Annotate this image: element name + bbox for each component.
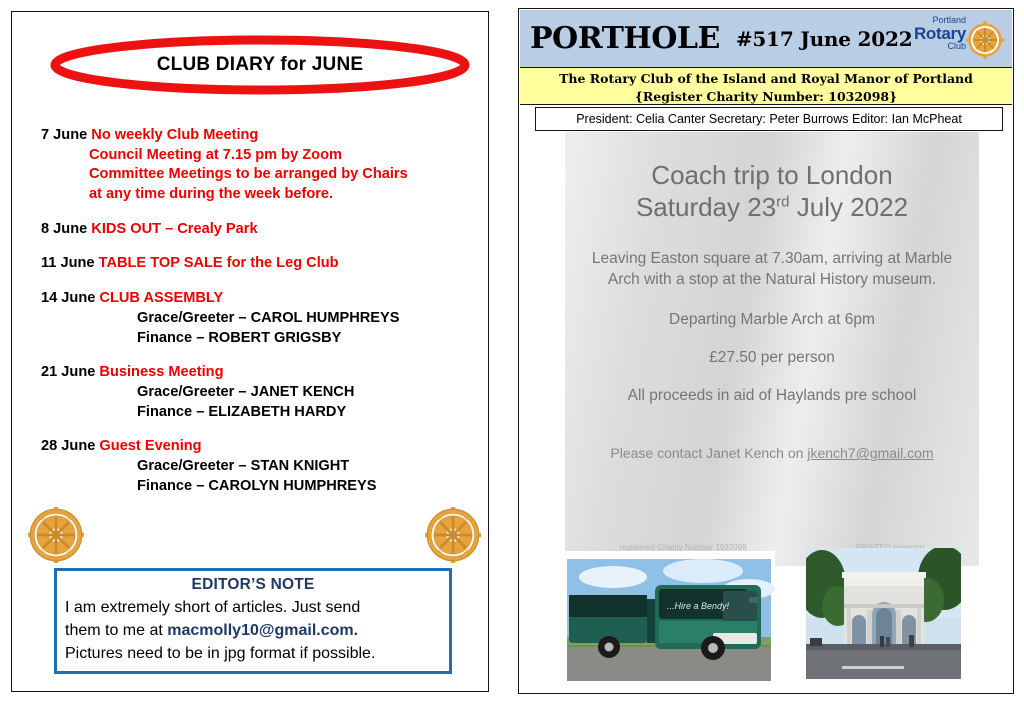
coach-trip-poster-image: Coach trip to London Saturday 23rd July …: [565, 132, 979, 566]
diary-entry-date: 11 June: [41, 255, 95, 271]
diary-entry: 14 June CLUB ASSEMBLYGrace/Greeter – CAR…: [41, 289, 471, 348]
poster-proceeds: All proceeds in aid of Haylands pre scho…: [565, 387, 979, 405]
editors-note-line-3: Pictures need to be in jpg format if pos…: [65, 642, 441, 665]
officers-row: President: Celia Canter Secretary: Peter…: [535, 107, 1003, 131]
editors-note-line-2-prefix: them to me at: [65, 622, 167, 639]
masthead: PORTHOLE #517 June 2022 Portland Rotary …: [520, 10, 1012, 67]
editors-note-line-2: them to me at macmolly10@gmail.com.: [65, 619, 441, 642]
diary-entry-date: 28 June: [41, 438, 95, 454]
logo-wordmark: Portland Rotary Club: [900, 13, 966, 51]
diary-entry-event: TABLE TOP SALE for the Leg Club: [99, 255, 339, 271]
diary-entry-event: Guest Evening: [99, 438, 201, 454]
diary-entry-role: Finance – ELIZABETH HARDY: [137, 403, 471, 423]
page-title: CLUB DIARY for JUNE: [48, 34, 472, 96]
poster-heading-ordinal: rd: [776, 193, 789, 210]
diary-entry-header: 7 June No weekly Club Meeting: [41, 126, 471, 146]
diary-entry-event: No weekly Club Meeting: [91, 127, 258, 143]
diary-entry-role: Finance – ROBERT GRIGSBY: [137, 329, 471, 349]
logo-line-rotary: Rotary: [900, 25, 966, 42]
poster-heading-date: Saturday 23: [636, 192, 776, 222]
portland-rotary-club-logo: Portland Rotary Club: [900, 13, 1008, 65]
poster-contact-email: jkench7@gmail.com: [807, 445, 933, 461]
club-diary-title-block: CLUB DIARY for JUNE: [48, 34, 472, 96]
diary-entry-header: 8 June KIDS OUT – Crealy Park: [41, 220, 471, 240]
diary-entry-date: 7 June: [41, 127, 87, 143]
masthead-title: PORTHOLE: [530, 21, 720, 56]
diary-entry-date: 21 June: [41, 364, 95, 380]
editors-note-box: EDITOR’S NOTE I am extremely short of ar…: [54, 568, 452, 674]
poster-heading-line-1: Coach trip to London: [565, 160, 979, 192]
masthead-issue: #517 June 2022: [736, 27, 913, 51]
charity-line-1: The Rotary Club of the Island and Royal …: [520, 70, 1012, 88]
diary-entry: 21 June Business MeetingGrace/Greeter – …: [41, 363, 471, 422]
poster-heading: Coach trip to London Saturday 23rd July …: [565, 160, 979, 223]
diary-entry-detail: Council Meeting at 7.15 pm by Zoom: [89, 146, 471, 166]
diary-entry-role: Grace/Greeter – STAN KNIGHT: [137, 457, 471, 477]
poster-contact: Please contact Janet Kench on jkench7@gm…: [565, 445, 979, 461]
poster-contact-prefix: Please contact Janet Kench on: [610, 445, 807, 461]
diary-entry-header: 21 June Business Meeting: [41, 363, 471, 383]
diary-entry: 8 June KIDS OUT – Crealy Park: [41, 220, 471, 240]
charity-line-2: {Register Charity Number: 1032098}: [520, 88, 1012, 106]
diary-entry-detail: at any time during the week before.: [89, 185, 471, 205]
rotary-wheel-icon: [966, 21, 1004, 59]
logo-line-club: Club: [900, 42, 966, 51]
diary-entry-header: 11 June TABLE TOP SALE for the Leg Club: [41, 254, 471, 274]
poster-heading-line-2: Saturday 23rd July 2022: [565, 192, 979, 224]
diary-entry-date: 8 June: [41, 221, 87, 237]
coach-photo: ...Hire a Bendy!: [563, 551, 775, 686]
editors-note-line-1: I am extremely short of articles. Just s…: [65, 596, 441, 619]
club-diary-panel: CLUB DIARY for JUNE 7 June No weekly Clu…: [11, 11, 489, 692]
editor-email-link[interactable]: macmolly10@gmail.com.: [167, 622, 358, 639]
diary-entry-event: CLUB ASSEMBLY: [99, 290, 223, 306]
editors-note-title: EDITOR’S NOTE: [65, 576, 441, 594]
poster-heading-month-year: July 2022: [790, 192, 909, 222]
diary-entry-list: 7 June No weekly Club MeetingCouncil Mee…: [41, 126, 471, 511]
poster-itinerary: Leaving Easton square at 7.30am, arrivin…: [565, 249, 979, 291]
rotary-wheel-icon: [28, 507, 84, 563]
diary-entry-header: 28 June Guest Evening: [41, 437, 471, 457]
diary-entry: 28 June Guest EveningGrace/Greeter – STA…: [41, 437, 471, 496]
poster-content: Coach trip to London Saturday 23rd July …: [565, 132, 979, 566]
diary-entry-date: 14 June: [41, 290, 95, 306]
diary-entry-role: Finance – CAROLYN HUMPHREYS: [137, 477, 471, 497]
diary-entry-detail: Committee Meetings to be arranged by Cha…: [89, 165, 471, 185]
diary-entry-header: 14 June CLUB ASSEMBLY: [41, 289, 471, 309]
diary-entry: 7 June No weekly Club MeetingCouncil Mee…: [41, 126, 471, 205]
diary-entry-role: Grace/Greeter – CAROL HUMPHREYS: [137, 309, 471, 329]
diary-entry-event: Business Meeting: [99, 364, 223, 380]
diary-entry-role: Grace/Greeter – JANET KENCH: [137, 383, 471, 403]
diary-entry: 11 June TABLE TOP SALE for the Leg Club: [41, 254, 471, 274]
charity-banner: The Rotary Club of the Island and Royal …: [520, 67, 1012, 105]
poster-price: £27.50 per person: [565, 349, 979, 367]
poster-departing: Departing Marble Arch at 6pm: [565, 311, 979, 329]
marble-arch-photo: [806, 548, 961, 679]
svg-text:...Hire a Bendy!: ...Hire a Bendy!: [667, 601, 730, 611]
rotary-wheel-icon: [425, 507, 481, 563]
diary-entry-event: KIDS OUT – Crealy Park: [91, 221, 257, 237]
